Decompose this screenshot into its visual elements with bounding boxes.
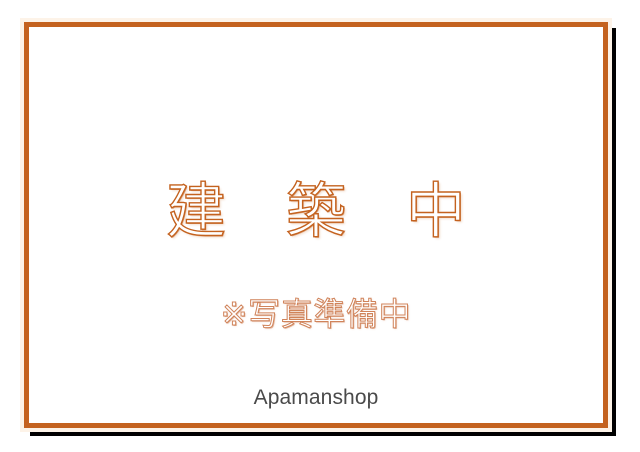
property-photo-placeholder: 建 築 中 ※写真準備中 Apamanshop	[0, 0, 640, 452]
subline-photo-in-preparation: ※写真準備中	[29, 298, 603, 330]
brand-name: Apamanshop	[29, 387, 603, 408]
headline-under-construction: 建 築 中	[29, 182, 603, 242]
placeholder-canvas: 建 築 中 ※写真準備中 Apamanshop	[29, 27, 603, 423]
